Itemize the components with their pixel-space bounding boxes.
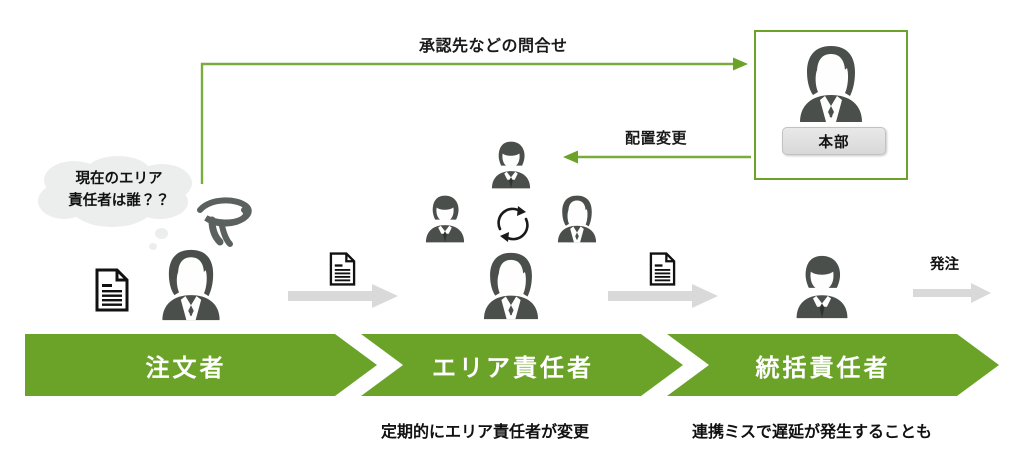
process-flow-bar: 注文者 エリア責任者 統括責任者 [25, 334, 999, 396]
flow-step-area-manager-label: エリア責任者 [432, 348, 594, 383]
order-label: 発注 [930, 253, 959, 274]
flow-step-orderer[interactable]: 注文者 [25, 334, 377, 396]
diagram-canvas: 承認先などの問合せ 配置変更 本部 [0, 0, 1024, 462]
thought-line-2: 責任者は誰？？ [34, 190, 204, 212]
person-female-icon [792, 42, 870, 126]
thought-dot-large [155, 228, 168, 239]
inquiry-label: 承認先などの問合せ [419, 32, 568, 56]
inquiry-arrowhead-icon [733, 58, 748, 71]
gray-arrow-right-icon [288, 284, 398, 308]
person-male-icon [421, 193, 469, 245]
caption-coordination-delay: 連携ミスで遅延が発生することも [692, 418, 932, 442]
document-icon [95, 268, 129, 312]
flow-step-area-manager[interactable]: エリア責任者 [361, 334, 683, 396]
thought-bubble: 現在のエリア 責任者は誰？？ [34, 156, 204, 228]
person-female-icon [477, 249, 545, 323]
gray-arrow-right-icon [608, 284, 718, 308]
thought-bubble-text: 現在のエリア 責任者は誰？？ [34, 168, 204, 212]
flow-step-general-manager[interactable]: 統括責任者 [667, 334, 999, 396]
person-male-icon [487, 139, 535, 191]
confusion-squiggle-icon [196, 196, 254, 252]
document-icon [329, 252, 356, 286]
rotation-cycle-icon [492, 203, 534, 245]
caption-area-manager-change: 定期的にエリア責任者が変更 [381, 418, 589, 442]
person-female-icon [553, 193, 601, 245]
head-office-box[interactable]: 本部 [754, 30, 908, 180]
thought-line-1: 現在のエリア [34, 168, 204, 190]
reassign-label: 配置変更 [625, 127, 687, 148]
gray-arrow-right-icon [913, 283, 991, 303]
head-office-label: 本部 [819, 131, 850, 152]
person-female-icon [155, 246, 227, 324]
flow-step-general-manager-label: 統括責任者 [756, 348, 891, 383]
person-male-icon [790, 252, 854, 322]
inquiry-line [202, 64, 733, 184]
head-office-label-chip[interactable]: 本部 [782, 127, 886, 155]
reassign-arrowhead-icon [563, 151, 578, 164]
document-icon [649, 252, 676, 286]
flow-step-orderer-label: 注文者 [146, 348, 227, 383]
